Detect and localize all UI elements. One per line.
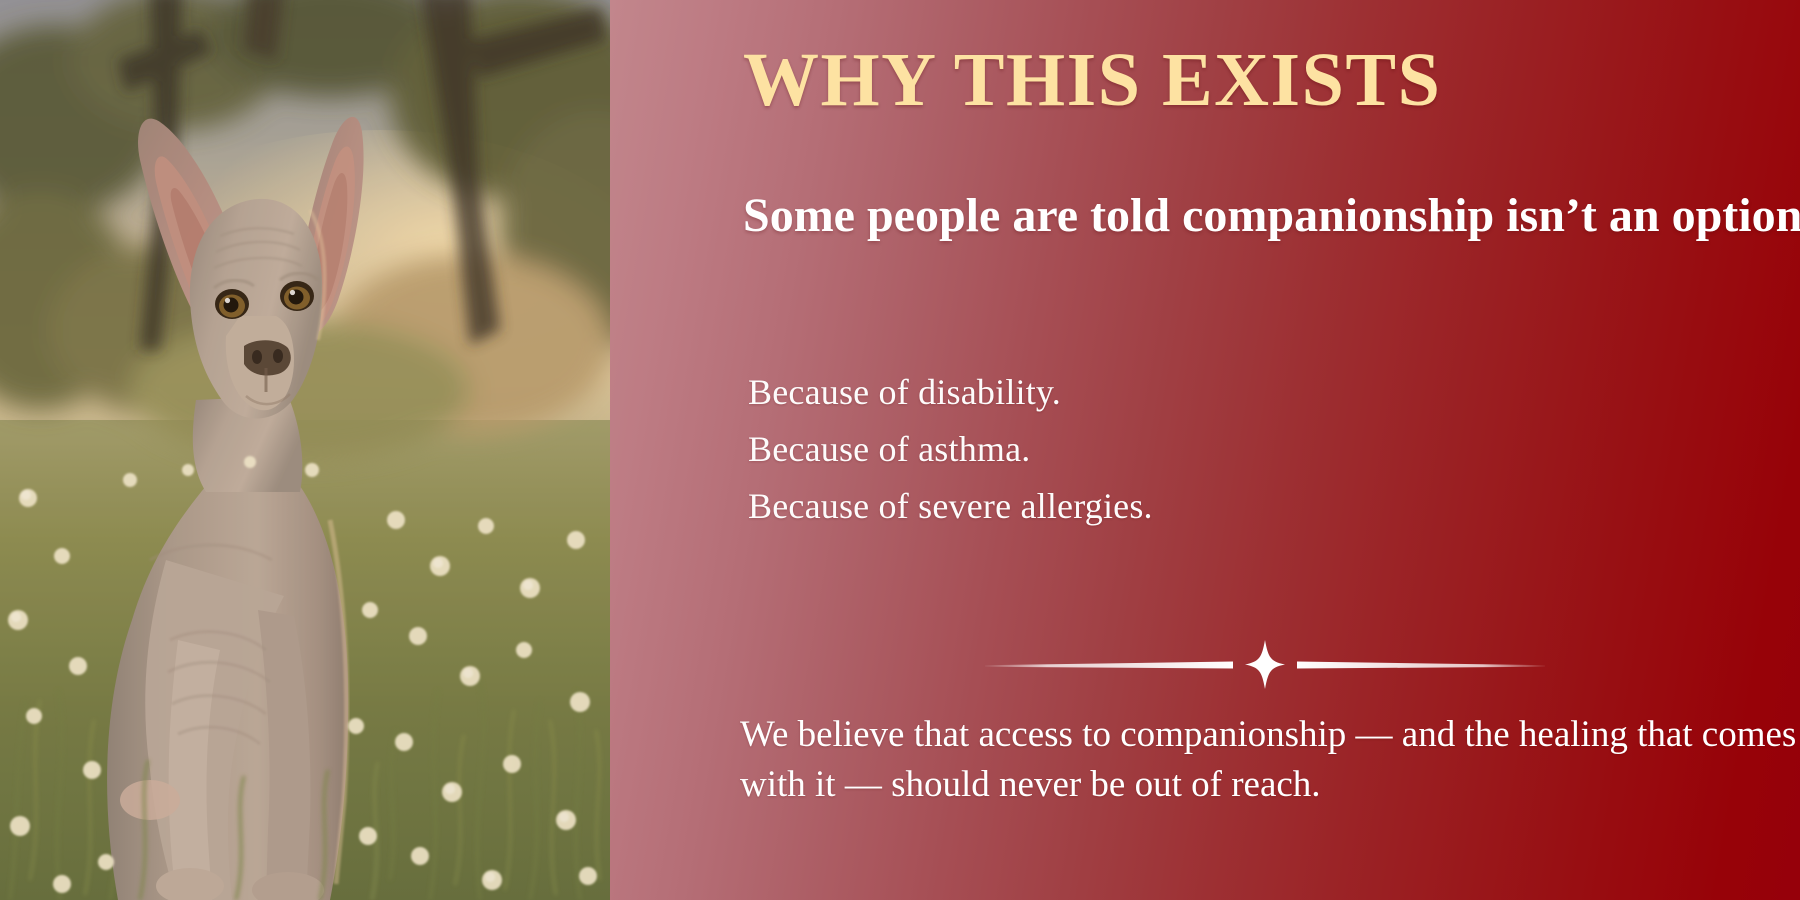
ornamental-divider (985, 638, 1545, 690)
page-title: WHY THIS EXISTS (743, 42, 1441, 118)
list-item: Because of disability. (748, 364, 1648, 421)
dog-photo (0, 0, 610, 900)
message-panel: WHY THIS EXISTS Some people are told com… (610, 0, 1800, 900)
list-item: Because of asthma. (748, 421, 1648, 478)
reasons-list: Because of disability. Because of asthma… (748, 364, 1648, 535)
why-this-exists-banner: WHY THIS EXISTS Some people are told com… (0, 0, 1800, 900)
closing-statement: We believe that access to companionship … (740, 710, 1800, 809)
list-item: Because of severe allergies. (748, 478, 1648, 535)
subheadline: Some people are told companionship isn’t… (743, 180, 1800, 253)
dog-photo-illustration (0, 0, 610, 900)
four-pointed-star-divider-icon (985, 638, 1545, 690)
